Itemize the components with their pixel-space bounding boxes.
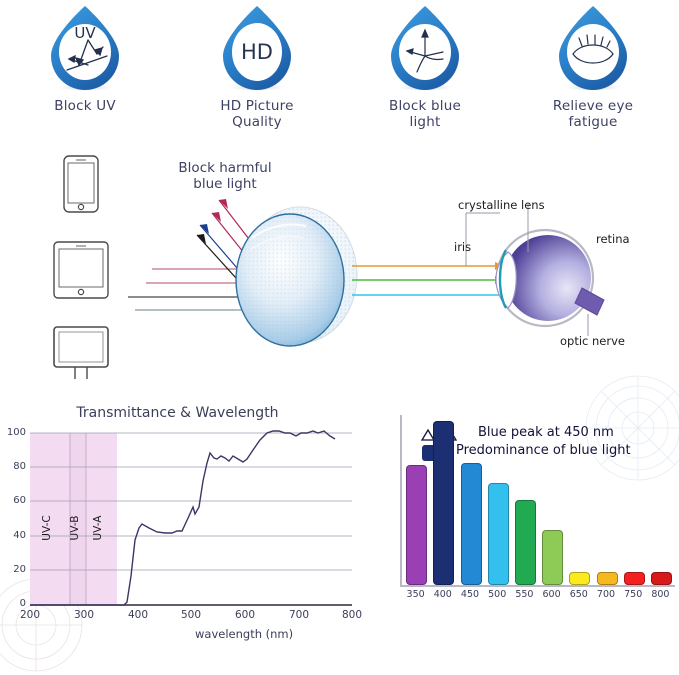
feature-label: Block blue light [340,98,510,130]
uv-ray-drop-icon: UV [45,4,125,90]
bar-xtick-350: 350 [401,589,431,600]
bar-xtick-750: 750 [618,589,648,600]
crystalline-lens-label: crystalline lens [458,198,545,212]
line-chart-plot: UV-C UV-B UV-A [0,423,360,633]
ytick-80: 80 [0,461,26,472]
hd-drop-icon: HD [217,4,297,90]
svg-text:HD: HD [241,40,273,64]
bar-xtick-500: 500 [482,589,512,600]
bar-650 [569,572,590,585]
xtick-500: 500 [171,609,211,621]
optic-nerve-label: optic nerve [560,334,625,348]
feature-hd-picture-quality: HD HD Picture Quality [172,0,342,130]
bar-label-group: 350400450500550600650700750800 [402,589,674,605]
ytick-60: 60 [0,495,26,506]
bar-350 [406,465,427,585]
xtick-700: 700 [279,609,319,621]
bar-700 [597,572,618,585]
feature-relieve-eye-fatigue: Relieve eye fatigue [508,0,678,130]
lens-light-diagram: Block harmful blue light [0,140,679,380]
bar-xtick-800: 800 [645,589,675,600]
bar-xtick-600: 600 [537,589,567,600]
bar-xtick-700: 700 [591,589,621,600]
blue-light-bar-chart: Blue peak at 450 nm Predominance of blue… [360,405,679,654]
bar-xtick-650: 650 [564,589,594,600]
ytick-20: 20 [0,564,26,575]
bar-400 [433,421,454,585]
uv-c-band-label: UV-C [41,515,53,540]
xtick-200: 200 [10,609,50,621]
bar-550 [515,500,536,585]
bar-600 [542,530,563,585]
line-chart-title: Transmittance & Wavelength [0,405,355,421]
blue-light-block-drop-icon [385,4,465,90]
bar-xtick-450: 450 [455,589,485,600]
drop-shape: UV [45,4,125,90]
ytick-100: 100 [0,427,26,438]
iris-label: iris [454,240,471,254]
ytick-0: 0 [0,598,26,609]
svg-text:UV: UV [74,24,96,42]
bar-xtick-400: 400 [428,589,458,600]
feature-label: HD Picture Quality [172,98,342,130]
retina-label: retina [596,232,630,246]
feature-row: UV Block UV HD HD Picture Quality [0,0,679,140]
uv-b-band-label: UV-B [69,516,81,541]
eye-drop-icon [553,4,633,90]
bar-800 [651,572,672,585]
bar-xtick-550: 550 [509,589,539,600]
transmittance-line-chart: Transmittance & Wavelength [0,405,360,654]
bar-500 [488,483,509,585]
charts-section: Transmittance & Wavelength [0,380,679,654]
feature-block-blue-light: Block blue light [340,0,510,130]
ytick-40: 40 [0,530,26,541]
xtick-300: 300 [64,609,104,621]
bar-group [402,415,674,585]
xtick-600: 600 [225,609,265,621]
bar-chart-x-axis [400,585,675,587]
uv-a-band-label: UV-A [92,515,104,541]
feature-label: Block UV [0,98,170,114]
bar-750 [624,572,645,585]
bar-450 [461,463,482,585]
drop-shape [385,4,465,90]
drop-shape: HD [217,4,297,90]
feature-block-uv: UV Block UV [0,0,170,114]
x-axis-title: wavelength (nm) [195,627,293,641]
xtick-400: 400 [118,609,158,621]
feature-label: Relieve eye fatigue [508,98,678,130]
drop-shape [553,4,633,90]
